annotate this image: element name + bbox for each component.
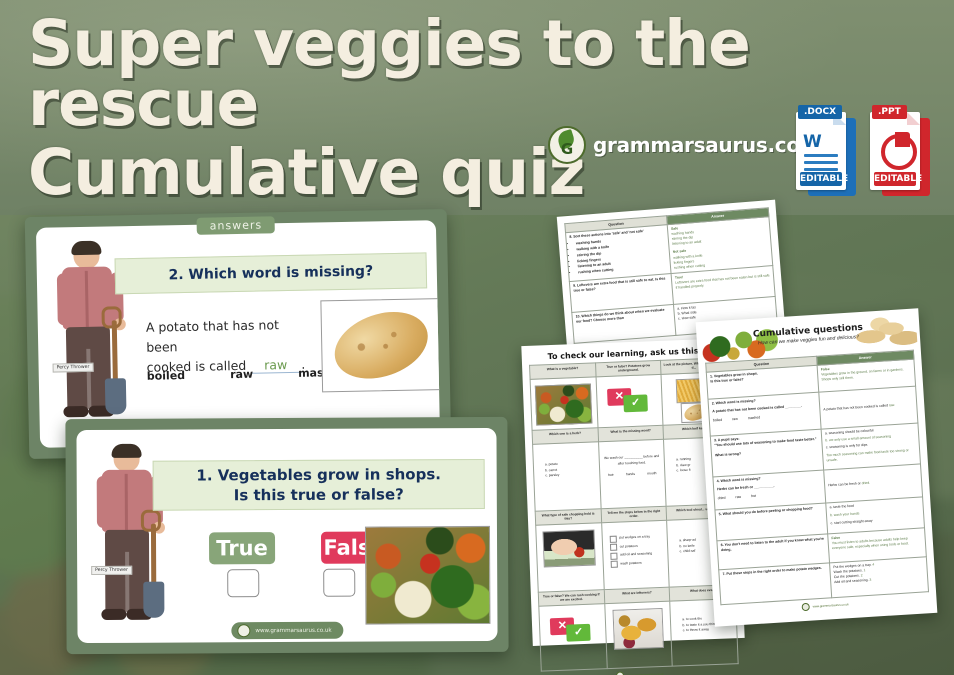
footer-url: www.grammarsaurus.co.uk	[813, 602, 849, 608]
word-w-icon: W	[803, 132, 822, 152]
option-item: raw	[735, 494, 741, 500]
true-false-buttons: True False	[209, 531, 387, 564]
checkbox-icon[interactable]	[610, 544, 617, 551]
docx-editable-label: EDITABLE	[800, 172, 842, 186]
question-text: 1. Vegetables grow in shops. Is this tru…	[710, 368, 814, 385]
mixed-vegetables-photo	[365, 526, 491, 625]
potato-shape	[326, 300, 437, 390]
slide-answers-content: Percy Thrower 2. Which word is missing? …	[36, 220, 440, 448]
grammarsaurus-logo-icon: G	[548, 126, 586, 164]
question-cell: 8. Sort these actions into 'safe' and 'n…	[566, 225, 672, 282]
checkbox-icon[interactable]	[610, 552, 617, 559]
option-item: c. to throw it away	[683, 626, 735, 634]
vegetables-image	[366, 527, 490, 624]
grid-cell: ✕ ✓	[539, 604, 607, 671]
cell-body	[607, 604, 669, 652]
false-checkbox[interactable]	[323, 569, 355, 597]
character-name-tag: Percy Thrower	[53, 363, 94, 373]
grid-row: a. potato b. carrot c. parsley We wash o…	[533, 437, 732, 512]
answer-highlight: raw.	[889, 403, 895, 407]
option-item: boiled	[713, 417, 723, 423]
footer-logo-icon	[237, 624, 250, 637]
option-item: c. parsley	[545, 472, 597, 480]
grid-cell	[530, 377, 598, 430]
grid-cell	[604, 601, 672, 668]
tick-icon: ✓	[566, 624, 591, 642]
option-item: hot	[751, 493, 756, 499]
brand-logo-row: G grammarsaurus.co.uk	[548, 126, 834, 164]
grid-cell: a. potato b. carrot c. parsley	[533, 442, 601, 511]
footer-logo-icon	[616, 671, 624, 675]
answer-cell: A potato that has not been cooked is cal…	[819, 386, 918, 429]
poster-canvas: Super veggies to the rescue Cumulative q…	[0, 0, 954, 675]
character-shoe-left	[101, 609, 126, 620]
mixed-vegetables-photo	[535, 384, 592, 426]
spade-shaft-icon	[151, 524, 156, 586]
option-item: mashed	[748, 415, 761, 421]
checkbox-label: add oil and seasoning	[620, 552, 652, 559]
true-false-icons: ✕ ✓	[607, 387, 652, 413]
page-fold-icon	[907, 112, 920, 125]
spade-blade-icon	[105, 378, 127, 414]
checkbox-icon[interactable]	[610, 561, 617, 568]
docx-type-label: .DOCX	[798, 105, 842, 119]
logo-letter: G	[561, 140, 573, 158]
true-checkbox[interactable]	[227, 569, 259, 597]
option-item: dried	[718, 495, 726, 501]
cell-body: ✕ ✓	[598, 377, 660, 425]
footer-url: www.grammarsaurus.co.uk	[255, 627, 331, 633]
slide-card-question[interactable]: Percy Thrower 1. Vegetables grow in shop…	[65, 417, 508, 654]
hands-image	[544, 531, 595, 567]
option-item: hands	[626, 472, 635, 478]
pie-wedge-icon	[895, 132, 910, 147]
checkbox-item[interactable]: add oil and seasoning	[610, 550, 666, 559]
answer-cell: Safe washing hands stirring the dip list…	[667, 217, 773, 274]
docx-badge: W EDITABLE .DOCX	[796, 112, 856, 196]
question-cell: 10. Which things do we think about when …	[572, 304, 676, 343]
question-band: 1. Vegetables grow in shops. Is this tru…	[153, 459, 485, 511]
checkbox-label: wash potatoes	[620, 560, 641, 566]
checkbox-item[interactable]: wash potatoes	[610, 559, 666, 568]
fill-options: hair hands mouth	[602, 471, 663, 479]
slide-question-content: Percy Thrower 1. Vegetables grow in shop…	[76, 428, 497, 643]
step-number: 2	[861, 574, 863, 578]
answer-text: Too much seasoning can make food taste t…	[826, 448, 916, 464]
potato-photo	[320, 298, 440, 392]
answer-cell: a. seasoning should be colourful b. we o…	[821, 423, 920, 470]
checkbox-label: put wedges on a tray	[619, 535, 650, 542]
leftovers-image	[614, 609, 663, 649]
option-item: raw	[732, 416, 738, 422]
slide-footer-badge: www.grammarsaurus.co.uk	[231, 622, 343, 640]
sentence-part-1: A potato that has not been	[146, 317, 279, 355]
question-bullets: washing hands walking with a knife stirr…	[576, 235, 667, 276]
character-hair	[112, 444, 142, 458]
checkbox-icon[interactable]	[609, 535, 616, 542]
grid-row: put wedges on a tray cut potatoes add oi…	[536, 518, 735, 593]
leftovers-photo	[612, 608, 663, 650]
grid-cell: put wedges on a tray cut potatoes add oi…	[601, 520, 669, 589]
checkbox-item[interactable]: put wedges on a tray	[609, 533, 665, 542]
character-name-tag: Percy Thrower	[91, 566, 132, 575]
footer-logo-icon	[801, 603, 809, 611]
option-item: hair	[608, 473, 614, 479]
cell-body: We wash our __________ before and after …	[601, 442, 664, 502]
grid-cell: We wash our __________ before and after …	[598, 439, 666, 508]
cell-body: put wedges on a tray cut potatoes add oi…	[604, 523, 667, 580]
true-false-checkboxes	[209, 569, 355, 598]
ppt-type-label: .PPT	[872, 105, 907, 119]
grid-cell	[536, 523, 604, 592]
option-boiled[interactable]: boiled	[147, 369, 186, 383]
question-band: 2. Which word is missing?	[115, 252, 428, 294]
grid-cell: ✕ ✓	[596, 374, 664, 427]
cumulative-body: Cumulative questions How can we make veg…	[703, 316, 930, 620]
chopping-hands-photo	[543, 529, 596, 567]
cell-body	[533, 379, 595, 427]
step-number: 1	[863, 568, 865, 572]
answer-text: Herbs can be fresh or	[828, 482, 861, 488]
character-hair	[71, 241, 101, 256]
option-raw[interactable]: raw	[230, 368, 253, 381]
cell-body: a. potato b. carrot c. parsley	[535, 444, 598, 508]
question-cell: 3. A pupil says: "You should use lots of…	[710, 429, 823, 477]
docx-badge-page: W EDITABLE	[796, 112, 846, 190]
ppt-badge-page: EDITABLE	[870, 112, 920, 190]
option-item: mouth	[647, 471, 656, 477]
true-button[interactable]: True	[209, 532, 275, 564]
fill-sentence: We wash our __________ before and after …	[601, 454, 662, 468]
spade-blade-icon	[143, 582, 164, 618]
answers-tab-label: answers	[197, 216, 276, 235]
document-cumulative-questions[interactable]: Cumulative questions How can we make veg…	[696, 308, 938, 626]
character-shoe-left	[63, 406, 88, 417]
question-cell: 7. Put these steps in the right order to…	[719, 563, 832, 605]
grid-row: ✕ ✓ a. to cook the b. to taste it a you …	[539, 599, 738, 672]
cell-body	[538, 525, 600, 573]
answer-options-row: boiled raw mashed	[147, 366, 347, 383]
ppt-editable-label: EDITABLE	[874, 172, 916, 186]
step-number: 3	[869, 578, 871, 582]
question-line-2: Is this true or false?	[196, 484, 441, 506]
answer-text: A potato that has not been cooked is cal…	[823, 404, 888, 412]
question-extra: What is wrong?	[715, 446, 819, 458]
step-number: 4	[872, 563, 874, 567]
question-line-1: 1. Vegetables grow in shops.	[196, 464, 441, 486]
step-text: Add oil and seasoning.	[834, 578, 868, 584]
checkbox-item[interactable]: cut potatoes	[610, 542, 666, 551]
tick-icon: ✓	[623, 394, 648, 412]
cell-body: ✕ ✓	[541, 606, 603, 654]
file-format-badges: W EDITABLE .DOCX EDITABLE .PPT	[796, 112, 930, 196]
ppt-badge: EDITABLE .PPT	[870, 112, 930, 196]
answer-cell: Put the wedges on a tray. 4 Wash the pot…	[830, 557, 929, 598]
true-false-icons: ✕ ✓	[550, 617, 595, 643]
cumulative-table: Question Answer 1. Vegetables grow in sh…	[705, 350, 929, 606]
checkbox-label: cut potatoes	[620, 544, 638, 550]
answer-highlight: dried.	[862, 481, 871, 486]
